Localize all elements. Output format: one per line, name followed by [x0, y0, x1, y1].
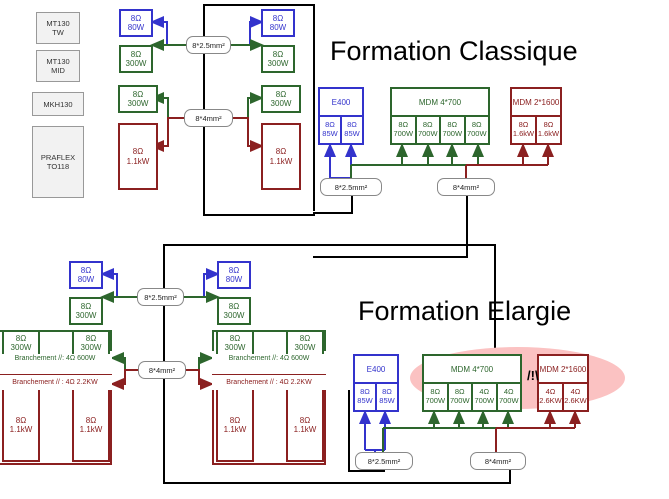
channel-power: 700W — [467, 130, 487, 139]
amp-channel: 8Ω 700W — [424, 384, 447, 410]
cable-label-8x4-elargie-speakers: 8*4mm² — [138, 361, 186, 379]
speaker-impedance: 8Ω — [276, 90, 286, 99]
channel-power: 2.6KW — [564, 397, 587, 406]
speaker-sub-left-a: 8Ω 1.1kW — [2, 390, 40, 462]
speaker-impedance: 8Ω — [16, 416, 26, 425]
speaker-mkh-right-a: 8Ω 300W — [216, 330, 254, 354]
amp-channel: 4Ω 700W — [496, 384, 521, 410]
channel-power: 1.6kW — [513, 130, 534, 139]
speaker-power: 1.1kW — [294, 425, 317, 434]
channel-power: 700W — [425, 397, 445, 406]
cable-label-8x4-elargie-amps: 8*4mm² — [470, 452, 526, 470]
amp-channel: 8Ω 700W — [392, 117, 415, 143]
speaker-impedance: 8Ω — [273, 14, 283, 23]
channel-power: 85W — [357, 397, 372, 406]
speaker-impedance: 8Ω — [230, 334, 240, 343]
speaker-impedance: 8Ω — [81, 266, 91, 275]
amp-channels: 8Ω 700W 8Ω 700W 4Ω 700W 4Ω 700W — [424, 384, 520, 410]
speaker-tw-right-elargie: 8Ω 80W — [217, 261, 251, 289]
amp-title: MDM 2*1600 — [539, 356, 587, 382]
speaker-impedance: 8Ω — [276, 147, 286, 156]
cable-label-8x25-elargie-amps: 8*2.5mm² — [355, 452, 413, 470]
speaker-power: 80W — [128, 23, 144, 32]
warning-icon: /!\ — [527, 368, 539, 383]
amp-mdm4x700-classique: MDM 4*700 8Ω 700W 8Ω 700W 8Ω 700W 8Ω 700… — [390, 87, 490, 145]
amp-channel: 8Ω 700W — [415, 117, 440, 143]
speaker-power: 300W — [271, 99, 292, 108]
section-title-classique: Formation Classique — [330, 36, 578, 67]
legend-label-line1: MKH130 — [43, 100, 72, 109]
channel-power: 700W — [418, 130, 438, 139]
speaker-power: 300W — [126, 59, 147, 68]
speaker-power: 300W — [225, 343, 246, 352]
amp-title: MDM 4*700 — [392, 89, 488, 115]
speaker-impedance: 8Ω — [16, 334, 26, 343]
amp-channels: 8Ω 85W 8Ω 85W — [355, 384, 397, 410]
speaker-impedance: 8Ω — [131, 50, 141, 59]
speaker-power: 1.1kW — [80, 425, 103, 434]
legend-item-praflex-to118: PRAFLEX TO118 — [32, 126, 84, 198]
legend-label-line1: MT130 — [46, 57, 69, 66]
section-title-elargie: Formation Elargie — [358, 296, 571, 327]
amp-title: MDM 2*1600 — [512, 89, 560, 115]
speaker-power: 300W — [128, 99, 149, 108]
speaker-mkh-left: 8Ω 300W — [118, 85, 158, 113]
speaker-power: 80W — [226, 275, 242, 284]
speaker-mid-left: 8Ω 300W — [119, 45, 153, 73]
speaker-power: 1.1kW — [270, 157, 293, 166]
amp-channels: 8Ω 1.6kW 8Ω 1.6kW — [512, 117, 560, 143]
branchement-label-red: Branchement // : 4Ω 2.2KW — [0, 375, 112, 390]
channel-power: 1.6kW — [538, 130, 559, 139]
speaker-mkh-right: 8Ω 300W — [261, 85, 301, 113]
speaker-power: 300W — [11, 343, 32, 352]
speaker-tw-left-elargie: 8Ω 80W — [69, 261, 103, 289]
speaker-mid-right: 8Ω 300W — [261, 45, 295, 73]
legend-item-mkh130: MKH130 — [32, 92, 84, 116]
speaker-sub-left: 8Ω 1.1kW — [118, 123, 158, 190]
cable-label-8x25-classique-amps: 8*2.5mm² — [320, 178, 382, 196]
speaker-mid-left-elargie: 8Ω 300W — [69, 297, 103, 325]
amp-channel: 4Ω 2.6KW — [562, 384, 587, 410]
speaker-mkh-right-b: 8Ω 300W — [286, 330, 324, 354]
legend-item-mt130-tw: MT130 TW — [36, 12, 80, 44]
speaker-sub-right-a: 8Ω 1.1kW — [216, 390, 254, 462]
branchement-label-red: Branchement // : 4Ω 2.2KW — [212, 375, 326, 390]
speaker-power: 300W — [76, 311, 97, 320]
speaker-impedance: 8Ω — [273, 50, 283, 59]
channel-power: 85W — [344, 130, 359, 139]
speaker-sub-left-b: 8Ω 1.1kW — [72, 390, 110, 462]
speaker-power: 1.1kW — [224, 425, 247, 434]
amp-mdm2x1600-elargie: MDM 2*1600 4Ω 2.6KW 4Ω 2.6KW — [537, 354, 589, 412]
amp-e400-classique: E400 8Ω 85W 8Ω 85W — [318, 87, 364, 145]
legend-label-line1: MT130 — [46, 19, 69, 28]
amp-channels: 8Ω 700W 8Ω 700W 8Ω 700W 8Ω 700W — [392, 117, 488, 143]
channel-power: 700W — [393, 130, 413, 139]
speaker-power: 300W — [224, 311, 245, 320]
amp-channel: 8Ω 85W — [375, 384, 397, 410]
channel-power: 85W — [379, 397, 394, 406]
amp-title: MDM 4*700 — [424, 356, 520, 382]
speaker-power: 300W — [295, 343, 316, 352]
speaker-mkh-left-a: 8Ω 300W — [2, 330, 40, 354]
amp-channel: 8Ω 1.6kW — [535, 117, 560, 143]
speaker-impedance: 8Ω — [300, 416, 310, 425]
speaker-impedance: 8Ω — [81, 302, 91, 311]
channel-power: 700W — [499, 397, 519, 406]
amp-channel: 8Ω 700W — [447, 384, 472, 410]
channel-power: 700W — [474, 397, 494, 406]
legend-item-mt130-mid: MT130 MID — [36, 50, 80, 82]
channel-power: 85W — [322, 130, 337, 139]
cable-label-8x25-elargie-speakers: 8*2.5mm² — [137, 288, 184, 306]
speaker-power: 80W — [78, 275, 94, 284]
speaker-impedance: 8Ω — [133, 90, 143, 99]
speaker-power: 1.1kW — [127, 157, 150, 166]
cable-label-8x4-classique-speakers: 8*4mm² — [184, 109, 233, 127]
speaker-mkh-left-b: 8Ω 300W — [72, 330, 110, 354]
speaker-sub-right-b: 8Ω 1.1kW — [286, 390, 324, 462]
speaker-impedance: 8Ω — [300, 334, 310, 343]
cable-label-8x4-classique-amps: 8*4mm² — [437, 178, 495, 196]
speaker-power: 300W — [81, 343, 102, 352]
speaker-sub-right: 8Ω 1.1kW — [261, 123, 301, 190]
legend-label-line2: TW — [52, 28, 64, 37]
amp-mdm2x1600-classique: MDM 2*1600 8Ω 1.6kW 8Ω 1.6kW — [510, 87, 562, 145]
speaker-impedance: 8Ω — [230, 416, 240, 425]
speaker-impedance: 8Ω — [133, 147, 143, 156]
amp-channel: 8Ω 1.6kW — [512, 117, 535, 143]
channel-power: 2.6KW — [539, 397, 562, 406]
speaker-impedance: 8Ω — [131, 14, 141, 23]
cable-label-8x25-classique-speakers: 8*2.5mm² — [186, 36, 231, 54]
amp-channel: 8Ω 700W — [439, 117, 464, 143]
speaker-power: 1.1kW — [10, 425, 33, 434]
amp-e400-elargie: E400 8Ω 85W 8Ω 85W — [353, 354, 399, 412]
amp-channel: 8Ω 700W — [464, 117, 489, 143]
amp-channel: 8Ω 85W — [355, 384, 375, 410]
legend-label-line2: TO118 — [47, 162, 69, 171]
amp-mdm4x700-elargie: MDM 4*700 8Ω 700W 8Ω 700W 4Ω 700W 4Ω 700… — [422, 354, 522, 412]
speaker-mid-right-elargie: 8Ω 300W — [217, 297, 251, 325]
speaker-power: 80W — [270, 23, 286, 32]
speaker-tw-left: 8Ω 80W — [119, 9, 153, 37]
speaker-impedance: 8Ω — [229, 266, 239, 275]
speaker-tw-right: 8Ω 80W — [261, 9, 295, 37]
speaker-impedance: 8Ω — [229, 302, 239, 311]
diagram-canvas: MT130 TW MT130 MID MKH130 PRAFLEX TO118 … — [0, 0, 669, 499]
amp-channel: 4Ω 700W — [471, 384, 496, 410]
legend-label-line1: PRAFLEX — [41, 153, 75, 162]
speaker-impedance: 8Ω — [86, 334, 96, 343]
amp-title: E400 — [355, 356, 397, 382]
amp-channel: 8Ω 85W — [340, 117, 362, 143]
speaker-power: 300W — [268, 59, 289, 68]
amp-title: E400 — [320, 89, 362, 115]
channel-power: 700W — [442, 130, 462, 139]
amp-channels: 8Ω 85W 8Ω 85W — [320, 117, 362, 143]
amp-channels: 4Ω 2.6KW 4Ω 2.6KW — [539, 384, 587, 410]
speaker-impedance: 8Ω — [86, 416, 96, 425]
legend-label-line2: MID — [51, 66, 65, 75]
amp-channel: 4Ω 2.6KW — [539, 384, 562, 410]
channel-power: 700W — [450, 397, 470, 406]
amp-channel: 8Ω 85W — [320, 117, 340, 143]
